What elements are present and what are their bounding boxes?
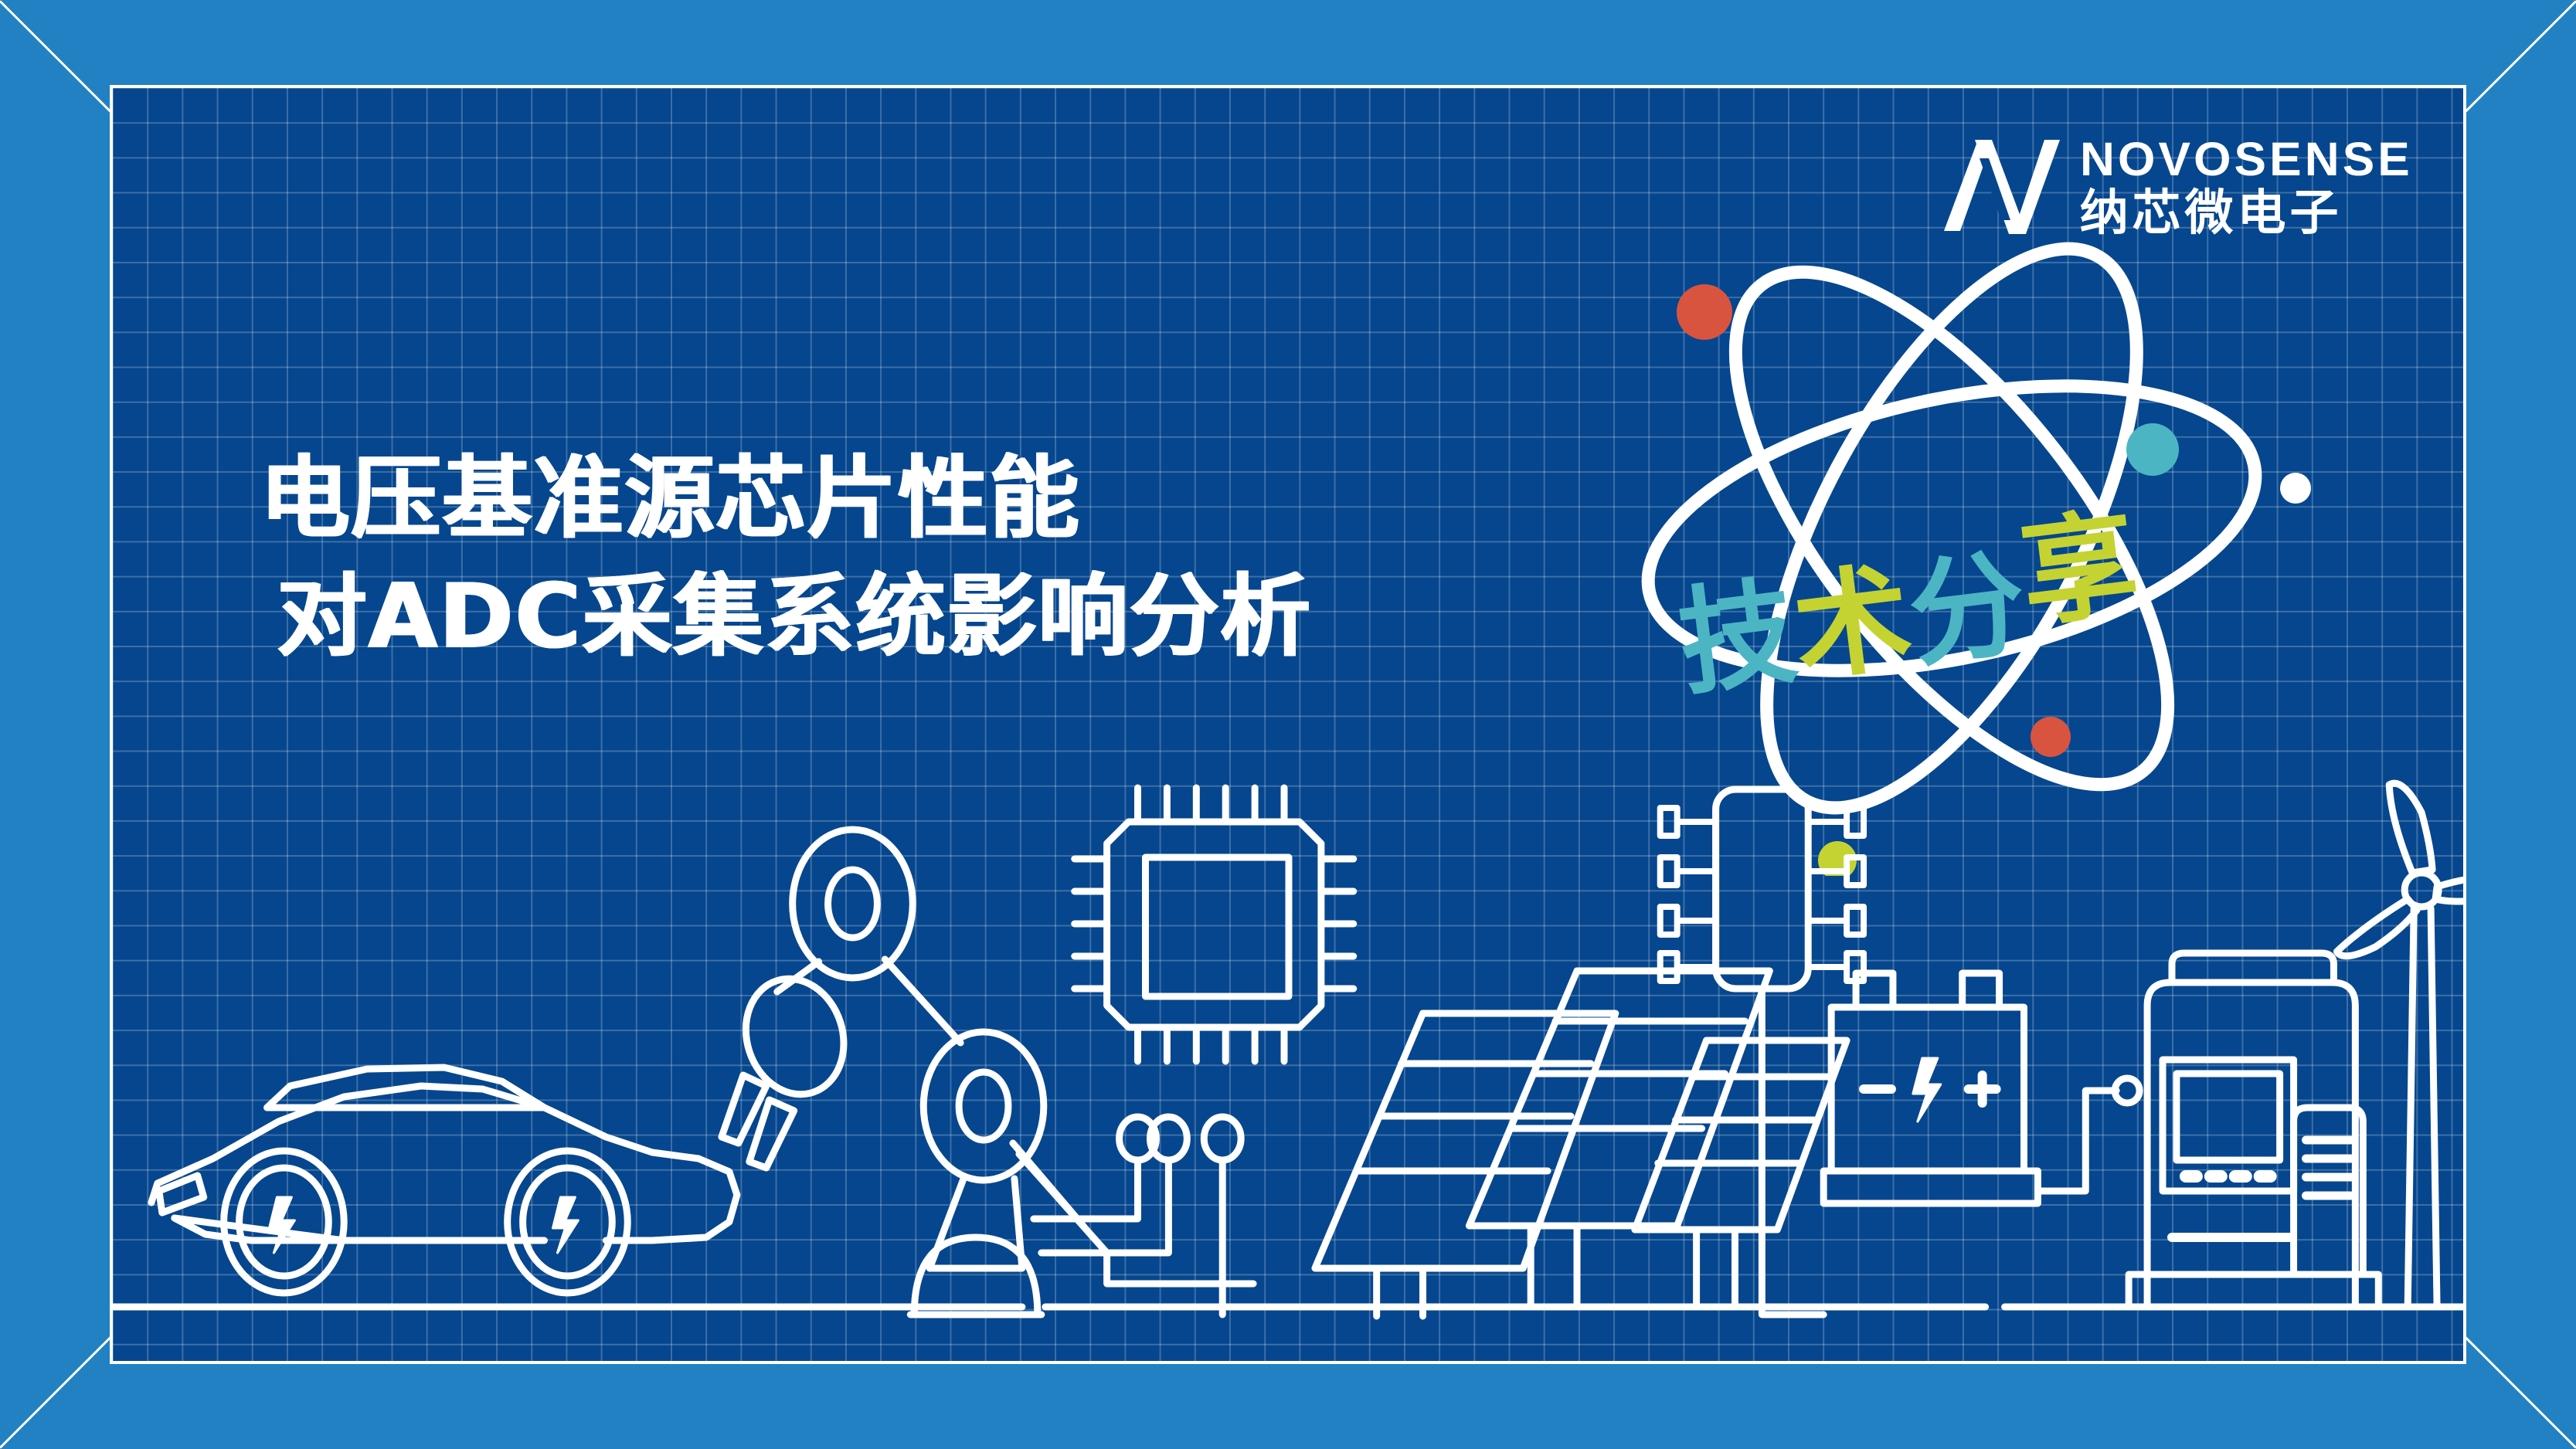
electron-right-icon (2126, 423, 2179, 476)
ev-charging-station-icon (2129, 953, 2378, 1307)
title-line-2: 对ADC采集系统影响分析 (277, 558, 1311, 676)
electron-right-small-icon (2280, 473, 2311, 504)
illustration-svg (113, 774, 2463, 1361)
badge-char-4: 享 (2015, 505, 2144, 634)
electron-center-icon (2031, 717, 2071, 757)
electron-top-left-icon (1677, 284, 1732, 340)
electric-car-icon (151, 1067, 737, 1293)
atom-badge: 技术分享 (1565, 181, 2338, 876)
illustration-row (113, 774, 2463, 1361)
badge-char-2: 术 (1788, 560, 1917, 689)
battery-icon (1823, 973, 2139, 1203)
title-line-1: 电压基准源芯片性能 (260, 439, 1311, 558)
solar-panels-icon (1315, 971, 1847, 1316)
atom-orbits-icon (1565, 181, 2338, 876)
banner-canvas: NOVOSENSE 纳芯微电子 电压基准源芯片性能 对ADC采集系统影响分析 (0, 0, 2576, 1449)
banner-title: 电压基准源芯片性能 对ADC采集系统影响分析 (260, 439, 1311, 676)
logo-name-en: NOVOSENSE (2080, 136, 2413, 183)
robot-arm-icon (722, 830, 1253, 1315)
cpu-chip-icon (1034, 788, 1354, 1315)
badge-char-1: 技 (1673, 574, 1802, 703)
badge-char-3: 分 (1903, 545, 2032, 674)
blueprint-panel: NOVOSENSE 纳芯微电子 电压基准源芯片性能 对ADC采集系统影响分析 (110, 85, 2466, 1364)
